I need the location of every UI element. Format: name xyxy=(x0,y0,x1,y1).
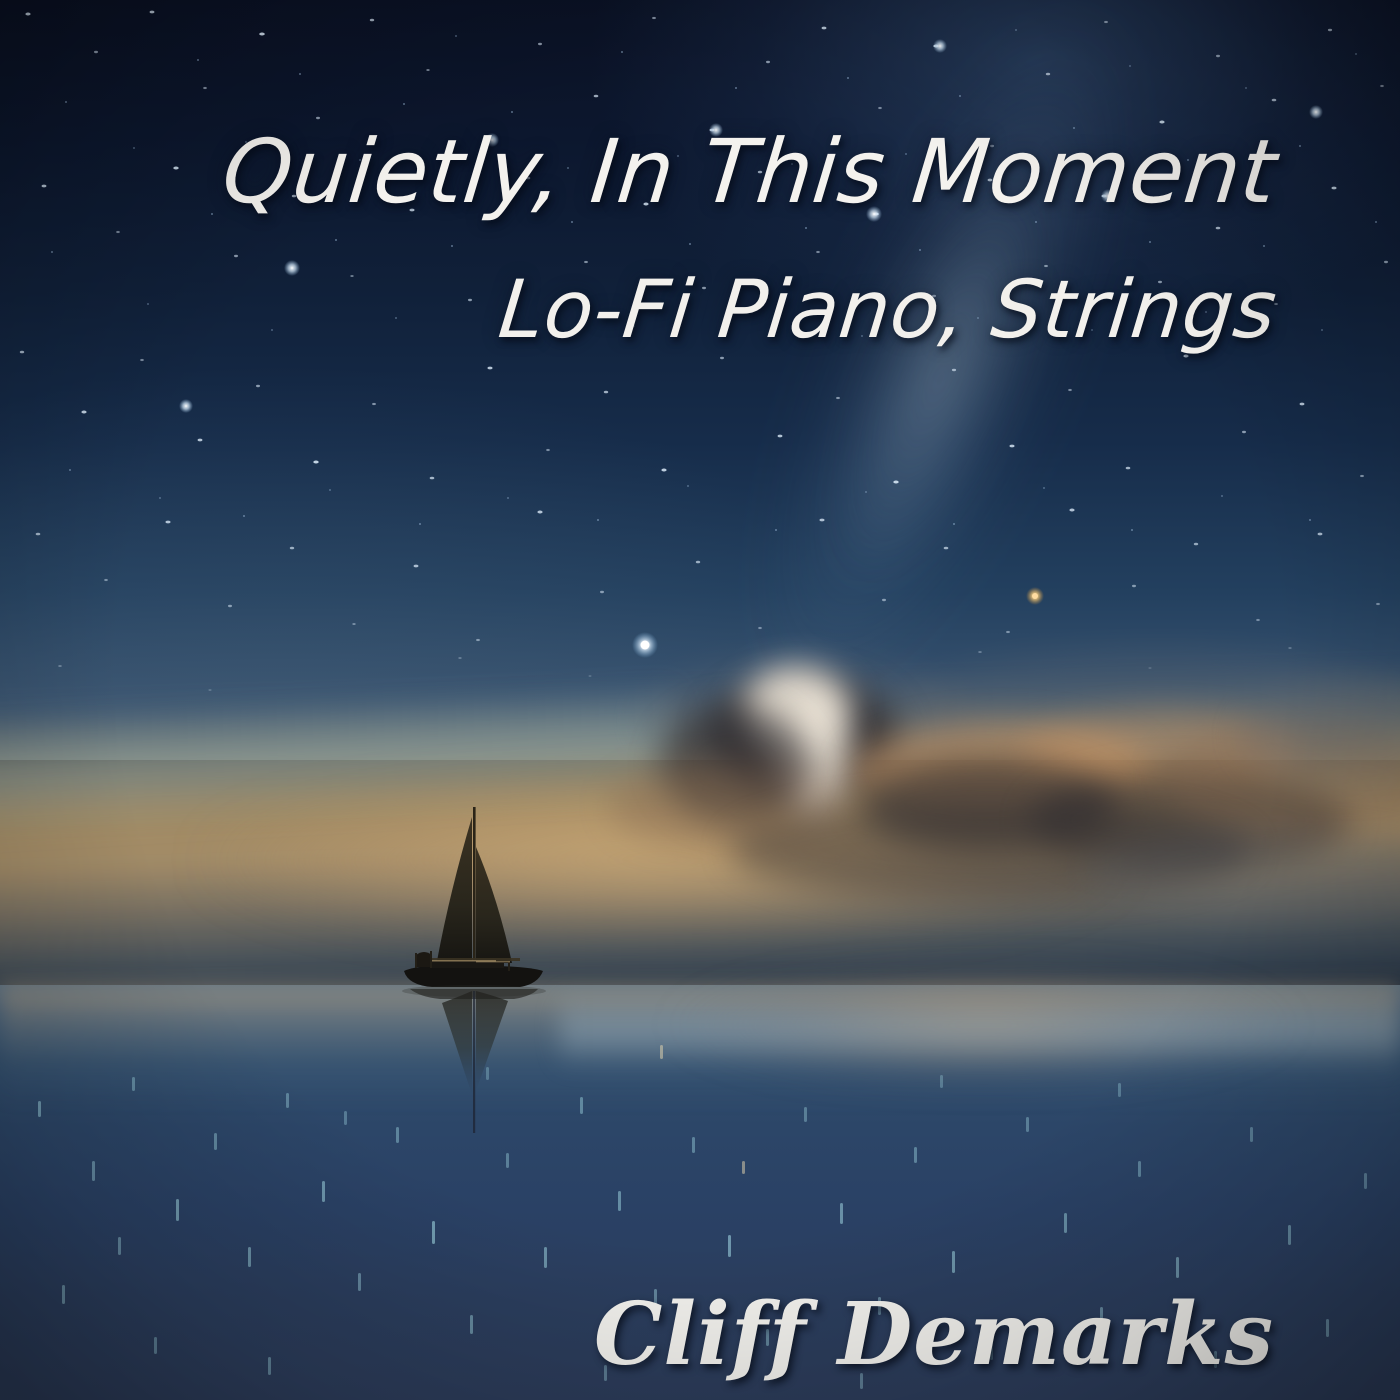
title-block: Quietly, In This Moment Lo-Fi Piano, Str… xyxy=(126,128,1276,350)
artist-block: Cliff Demarks xyxy=(594,1292,1274,1378)
night-sky-background xyxy=(0,0,1400,760)
album-title: Quietly, In This Moment xyxy=(121,128,1280,216)
water-mist-band xyxy=(560,990,1400,1070)
album-subtitle: Lo-Fi Piano, Strings xyxy=(122,270,1280,350)
album-cover: Quietly, In This Moment Lo-Fi Piano, Str… xyxy=(0,0,1400,1400)
artist-name: Cliff Demarks xyxy=(594,1292,1274,1378)
